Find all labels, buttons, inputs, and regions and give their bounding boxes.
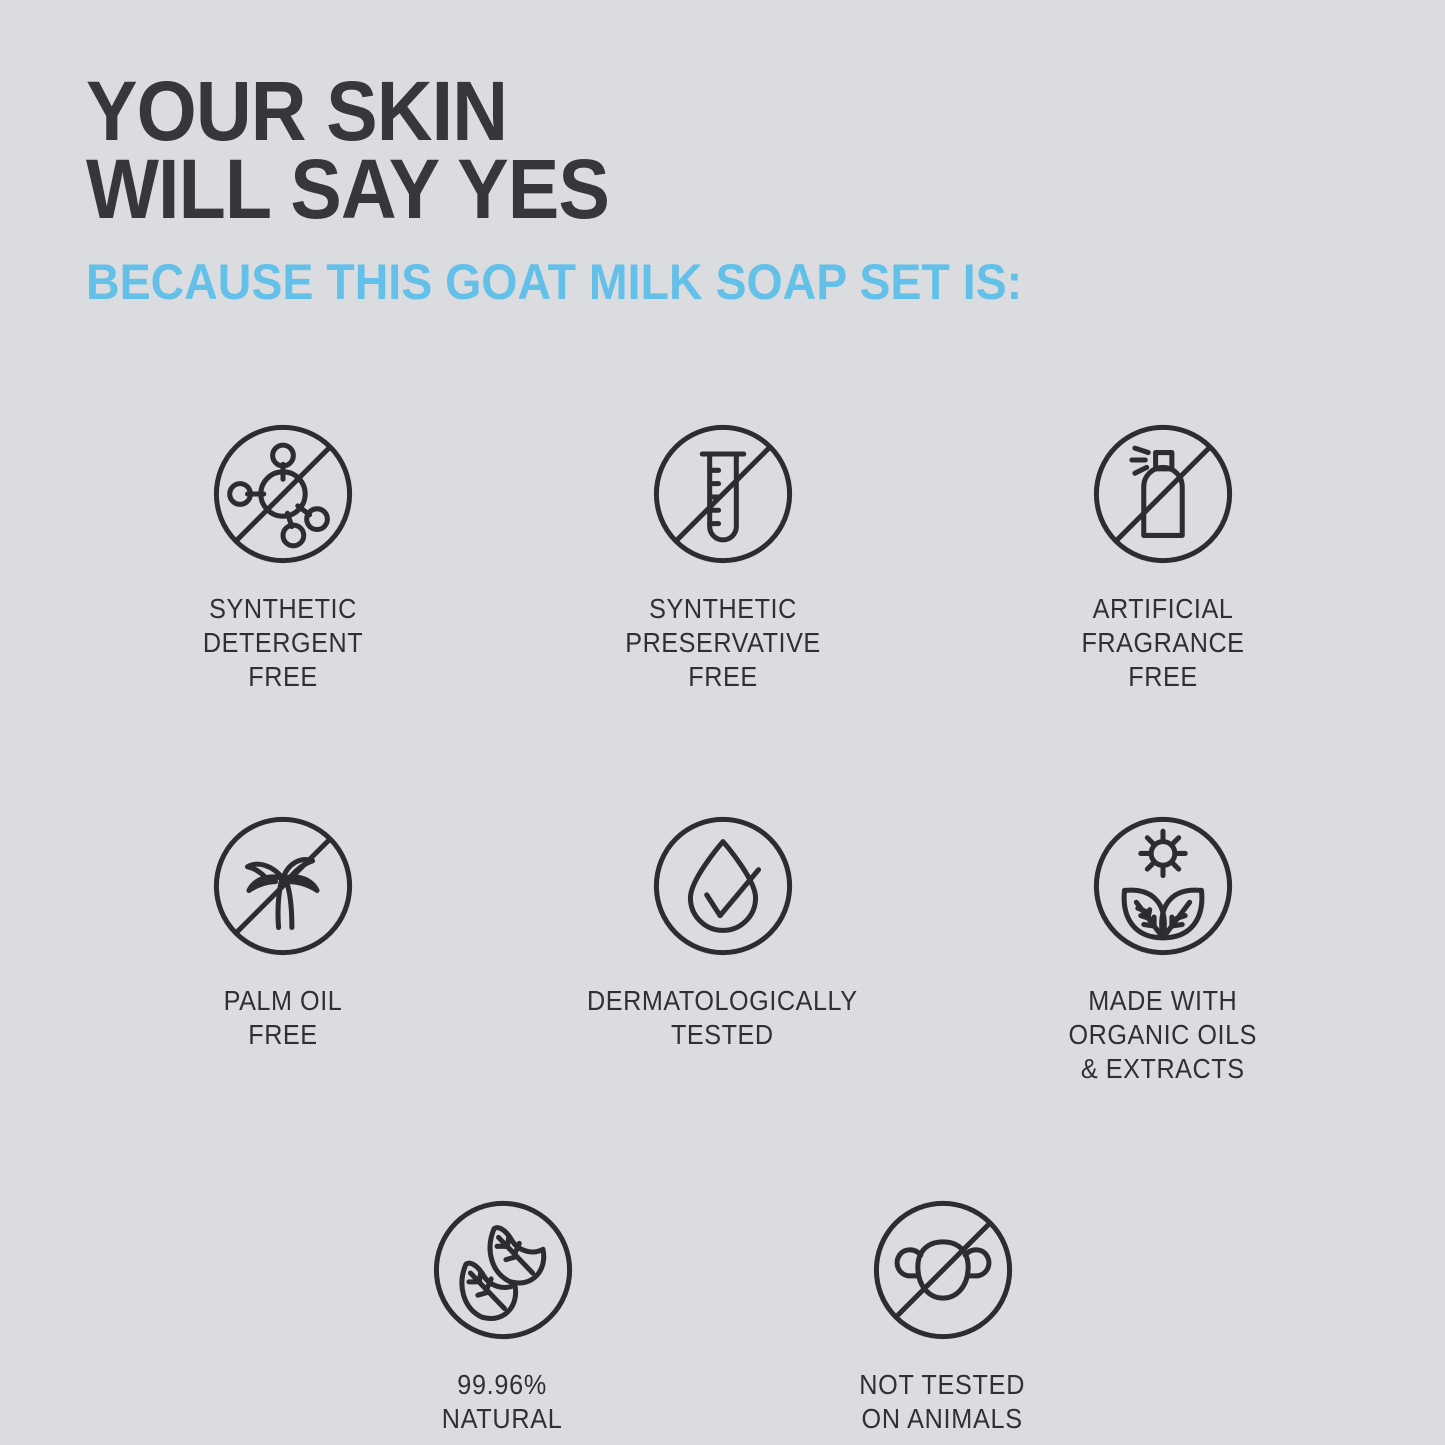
headline-line-1: YOUR SKIN xyxy=(86,72,1273,150)
badge-label: ARTIFICIAL FRAGRANCE FREE xyxy=(1050,592,1275,694)
badge-dermatologically-tested: DERMATOLOGICALLY TESTED xyxy=(598,812,848,1052)
headline-line-2: WILL SAY YES xyxy=(86,150,1273,228)
no-animal-testing-icon xyxy=(869,1196,1017,1344)
badge-label: MADE WITH ORGANIC OILS & EXTRACTS xyxy=(1068,984,1257,1086)
benefit-icon-grid: SYNTHETIC DETERGENT FREE xyxy=(0,420,1445,1436)
badge-natural-percentage: 99.96% NATURAL xyxy=(378,1196,628,1436)
promo-infographic: YOUR SKIN WILL SAY YES BECAUSE THIS GOAT… xyxy=(0,0,1445,1445)
badge-synthetic-preservative-free: SYNTHETIC PRESERVATIVE FREE xyxy=(598,420,848,694)
badge-synthetic-detergent-free: SYNTHETIC DETERGENT FREE xyxy=(158,420,408,694)
no-molecule-icon xyxy=(209,420,357,568)
benefit-row-3: 99.96% NATURAL NOT TESTED ON ANIMALS xyxy=(0,1196,1445,1436)
badge-not-tested-on-animals: NOT TESTED ON ANIMALS xyxy=(818,1196,1068,1436)
sun-leaves-icon xyxy=(1089,812,1237,960)
two-leaves-icon xyxy=(429,1196,577,1344)
badge-label: 99.96% NATURAL xyxy=(442,1368,563,1436)
badge-label: SYNTHETIC PRESERVATIVE FREE xyxy=(610,592,835,694)
benefit-row-2: PALM OIL FREE DERMATOLOGICALLY TESTED xyxy=(0,812,1445,1086)
no-palm-tree-icon xyxy=(209,812,357,960)
badge-made-with-organic-oils: MADE WITH ORGANIC OILS & EXTRACTS xyxy=(1038,812,1288,1086)
benefit-row-1: SYNTHETIC DETERGENT FREE xyxy=(0,420,1445,694)
badge-label: NOT TESTED ON ANIMALS xyxy=(860,1368,1026,1436)
badge-label: PALM OIL FREE xyxy=(223,984,342,1052)
droplet-check-icon xyxy=(649,812,797,960)
headline-block: YOUR SKIN WILL SAY YES BECAUSE THIS GOAT… xyxy=(86,72,1376,308)
badge-label: DERMATOLOGICALLY TESTED xyxy=(587,984,858,1052)
no-spray-bottle-icon xyxy=(1089,420,1237,568)
no-test-tube-icon xyxy=(649,420,797,568)
badge-palm-oil-free: PALM OIL FREE xyxy=(158,812,408,1052)
badge-label: SYNTHETIC DETERGENT FREE xyxy=(170,592,395,694)
subheadline: BECAUSE THIS GOAT MILK SOAP SET IS: xyxy=(86,256,1286,308)
badge-artificial-fragrance-free: ARTIFICIAL FRAGRANCE FREE xyxy=(1038,420,1288,694)
